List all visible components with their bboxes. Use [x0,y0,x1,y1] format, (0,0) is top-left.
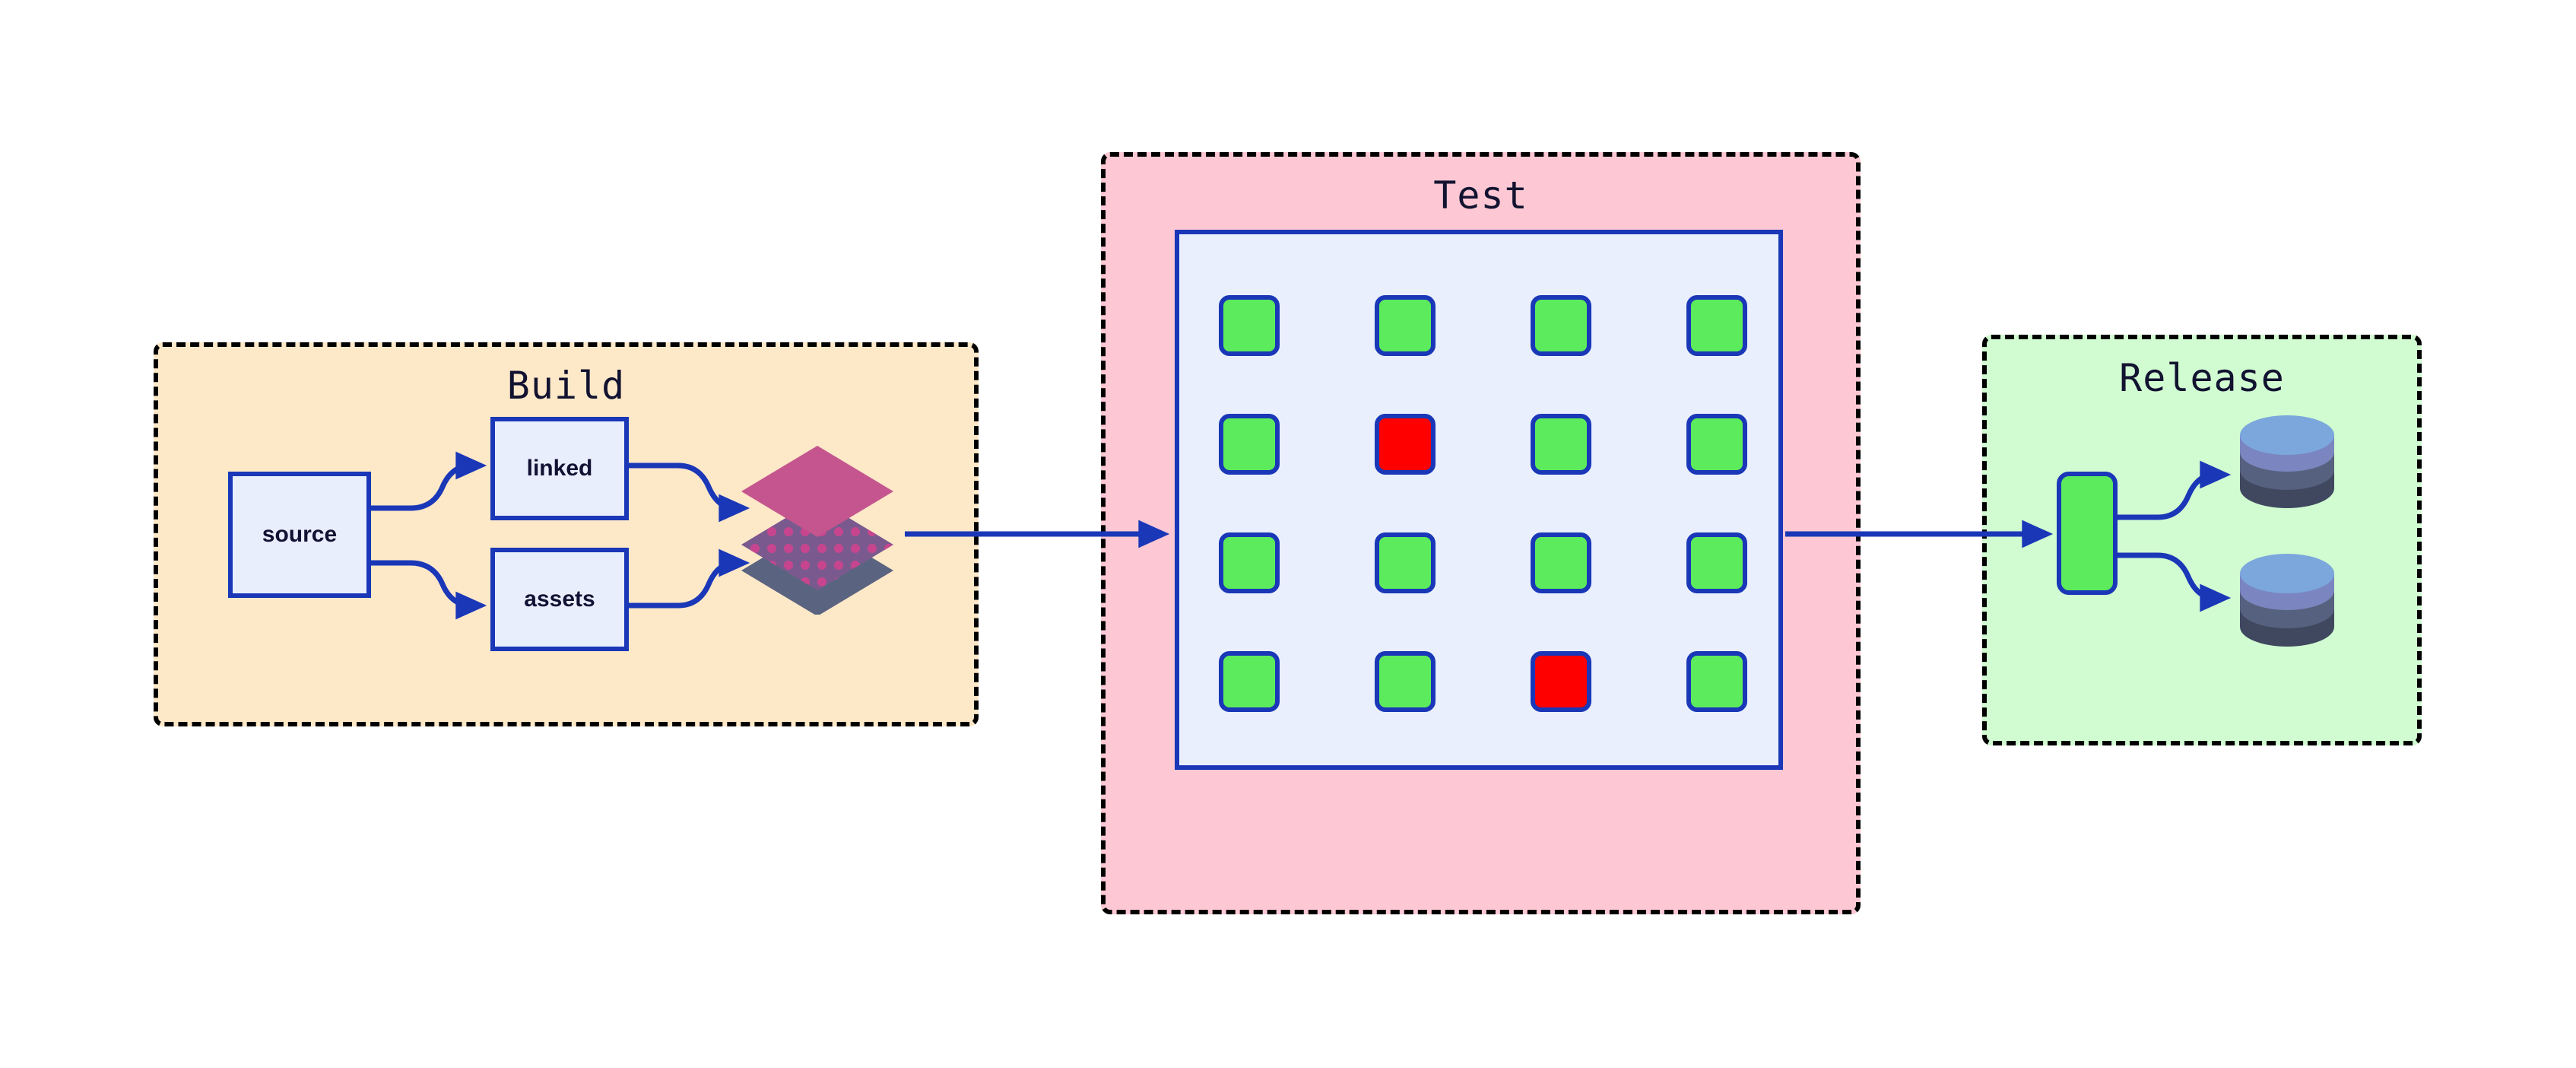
database-icon [2235,548,2339,650]
test-cell-pass-r2c3[interactable] [1531,414,1591,475]
test-panel [1175,230,1783,770]
test-cell-pass-r3c3[interactable] [1531,532,1591,593]
cluster-build-title: Build [158,364,974,408]
cluster-release-title: Release [1987,356,2417,400]
node-source-label: source [262,522,337,548]
node-source[interactable]: source [228,472,371,598]
node-linked-label: linked [527,456,593,482]
test-cell-pass-r1c2[interactable] [1375,295,1436,356]
test-cell-pass-r1c3[interactable] [1531,295,1591,356]
node-assets[interactable]: assets [490,548,629,651]
test-cell-pass-r1c4[interactable] [1686,295,1747,356]
cluster-test-title: Test [1106,173,1856,218]
test-cell-fail-r2c2[interactable] [1375,414,1436,475]
test-cell-pass-r4c1[interactable] [1219,651,1280,712]
test-cell-pass-r3c2[interactable] [1375,532,1436,593]
test-cell-pass-r1c1[interactable] [1219,295,1280,356]
test-cell-pass-r3c1[interactable] [1219,532,1280,593]
test-cell-pass-r4c2[interactable] [1375,651,1436,712]
release-deploy-bar[interactable] [2057,472,2118,595]
cluster-release: Release [1982,335,2422,745]
test-cell-fail-r4c3[interactable] [1531,651,1591,712]
layers-icon [730,440,905,615]
test-cell-pass-r4c4[interactable] [1686,651,1747,712]
diagram-canvas: Build source linked assets Test [0,0,2576,1068]
test-results-grid [1219,295,1748,712]
test-cell-pass-r2c4[interactable] [1686,414,1747,475]
test-cell-pass-r2c1[interactable] [1219,414,1280,475]
database-icon [2235,409,2339,511]
node-linked[interactable]: linked [490,417,629,520]
test-cell-pass-r3c4[interactable] [1686,532,1747,593]
node-assets-label: assets [524,586,595,612]
